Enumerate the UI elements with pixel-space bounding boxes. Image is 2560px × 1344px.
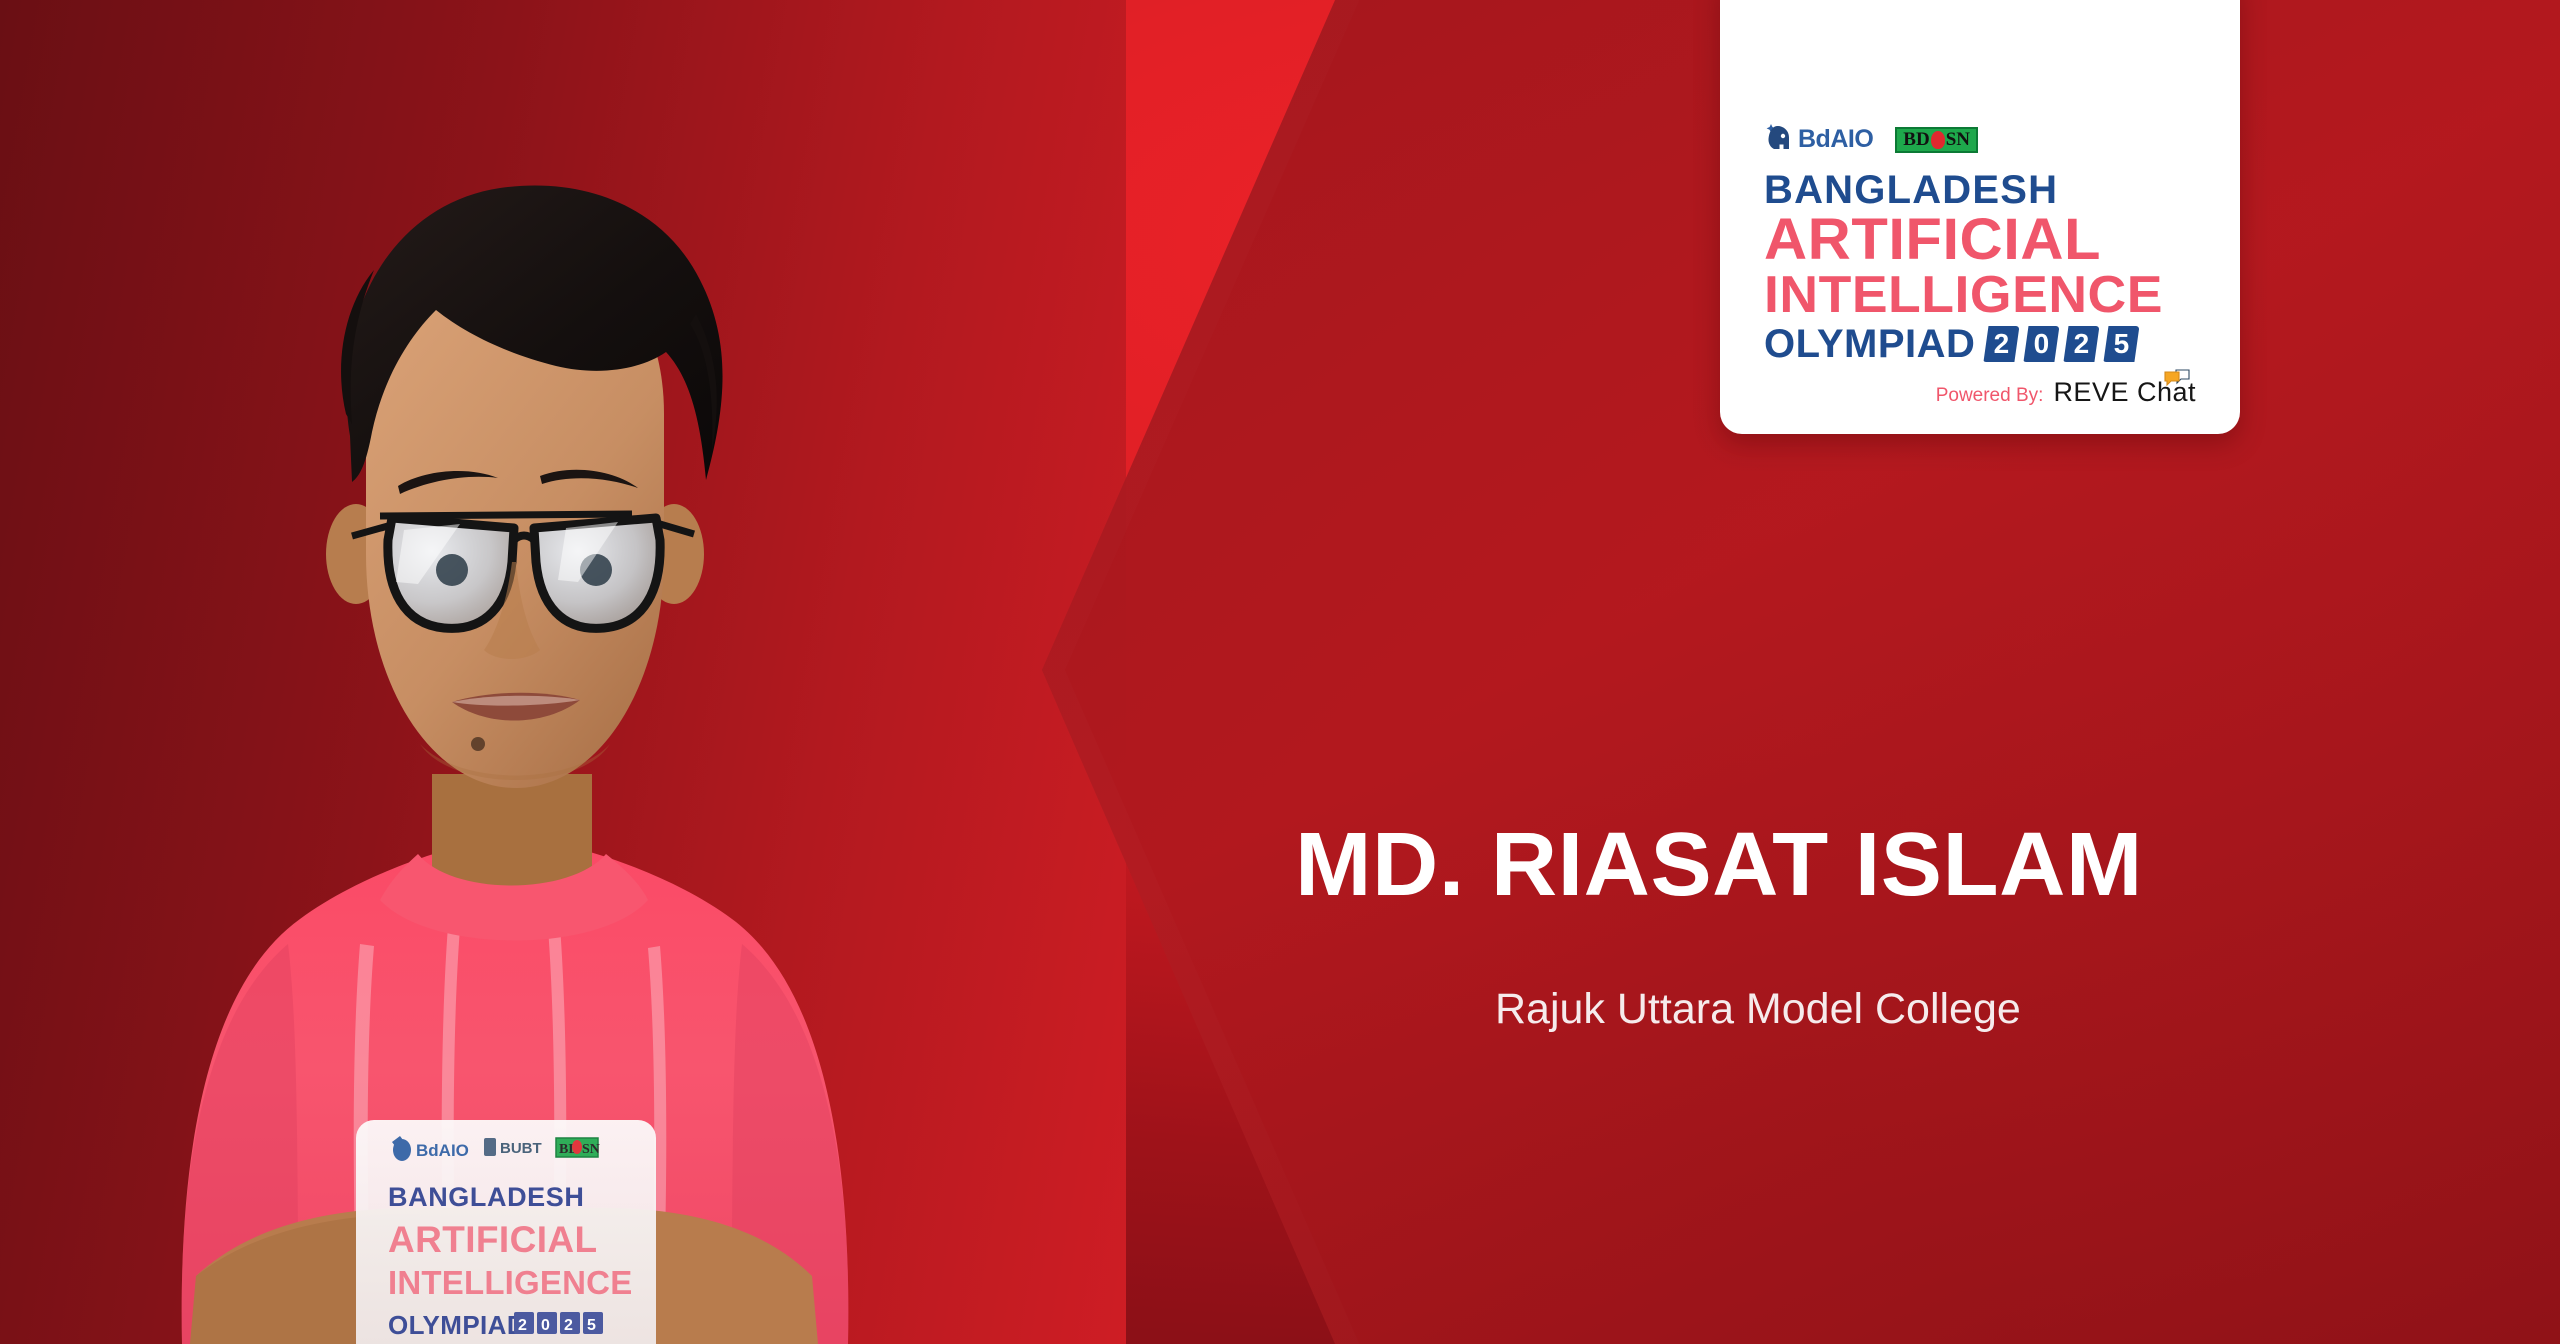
chat-bubble-icon: [2164, 362, 2190, 379]
year-digit-4: 5: [2103, 326, 2139, 362]
bdaio-label: BdAIO: [1798, 127, 1873, 152]
head-sparkle-icon: [1764, 121, 1794, 158]
year-digit-2: 0: [2023, 326, 2059, 362]
bdaio-logo: BdAIO: [1764, 121, 1873, 158]
bdosn-logo: BD SN: [1895, 127, 1978, 153]
logo-line-olympiad-row: OLYMPIAD 2 0 2 5: [1764, 323, 2202, 365]
banner-root: BdAIO BUBT BD SN BANGLADESH ARTIFICIAL I…: [0, 0, 2560, 1344]
background-left-panel: [0, 0, 1126, 1344]
logo-line-artificial: ARTIFICIAL: [1764, 211, 2215, 269]
participant-name: MD. RIASAT ISLAM: [1295, 820, 2376, 910]
participant-institution: Rajuk Uttara Model College: [1295, 910, 2355, 1031]
logo-line-bangladesh: BANGLADESH: [1764, 169, 2202, 211]
reve-chat-logo: REVE Chat: [2053, 377, 2196, 408]
logo-line-intelligence: INTELLIGENCE: [1764, 269, 2215, 321]
year-digit-1: 2: [1983, 326, 2019, 362]
year-digit-3: 2: [2063, 326, 2099, 362]
partner-logos-row: BdAIO BD SN: [1764, 123, 2202, 157]
event-logo-card: BdAIO BD SN BANGLADESH ARTIFICIAL INTELL…: [1720, 0, 2240, 434]
powered-by-label: Powered By:: [1936, 385, 2044, 407]
bdosn-dot-icon: [1931, 131, 1945, 149]
bdosn-suffix: SN: [1946, 130, 1970, 149]
participant-info: MD. RIASAT ISLAM Rajuk Uttara Model Coll…: [1295, 820, 2355, 1031]
logo-line-olympiad: OLYMPIAD: [1764, 323, 1975, 365]
bdosn-prefix: BD: [1903, 130, 1929, 149]
year-badges: 2 0 2 5: [1983, 326, 2139, 362]
powered-by-row: Powered By: REVE Chat: [1764, 377, 2202, 408]
